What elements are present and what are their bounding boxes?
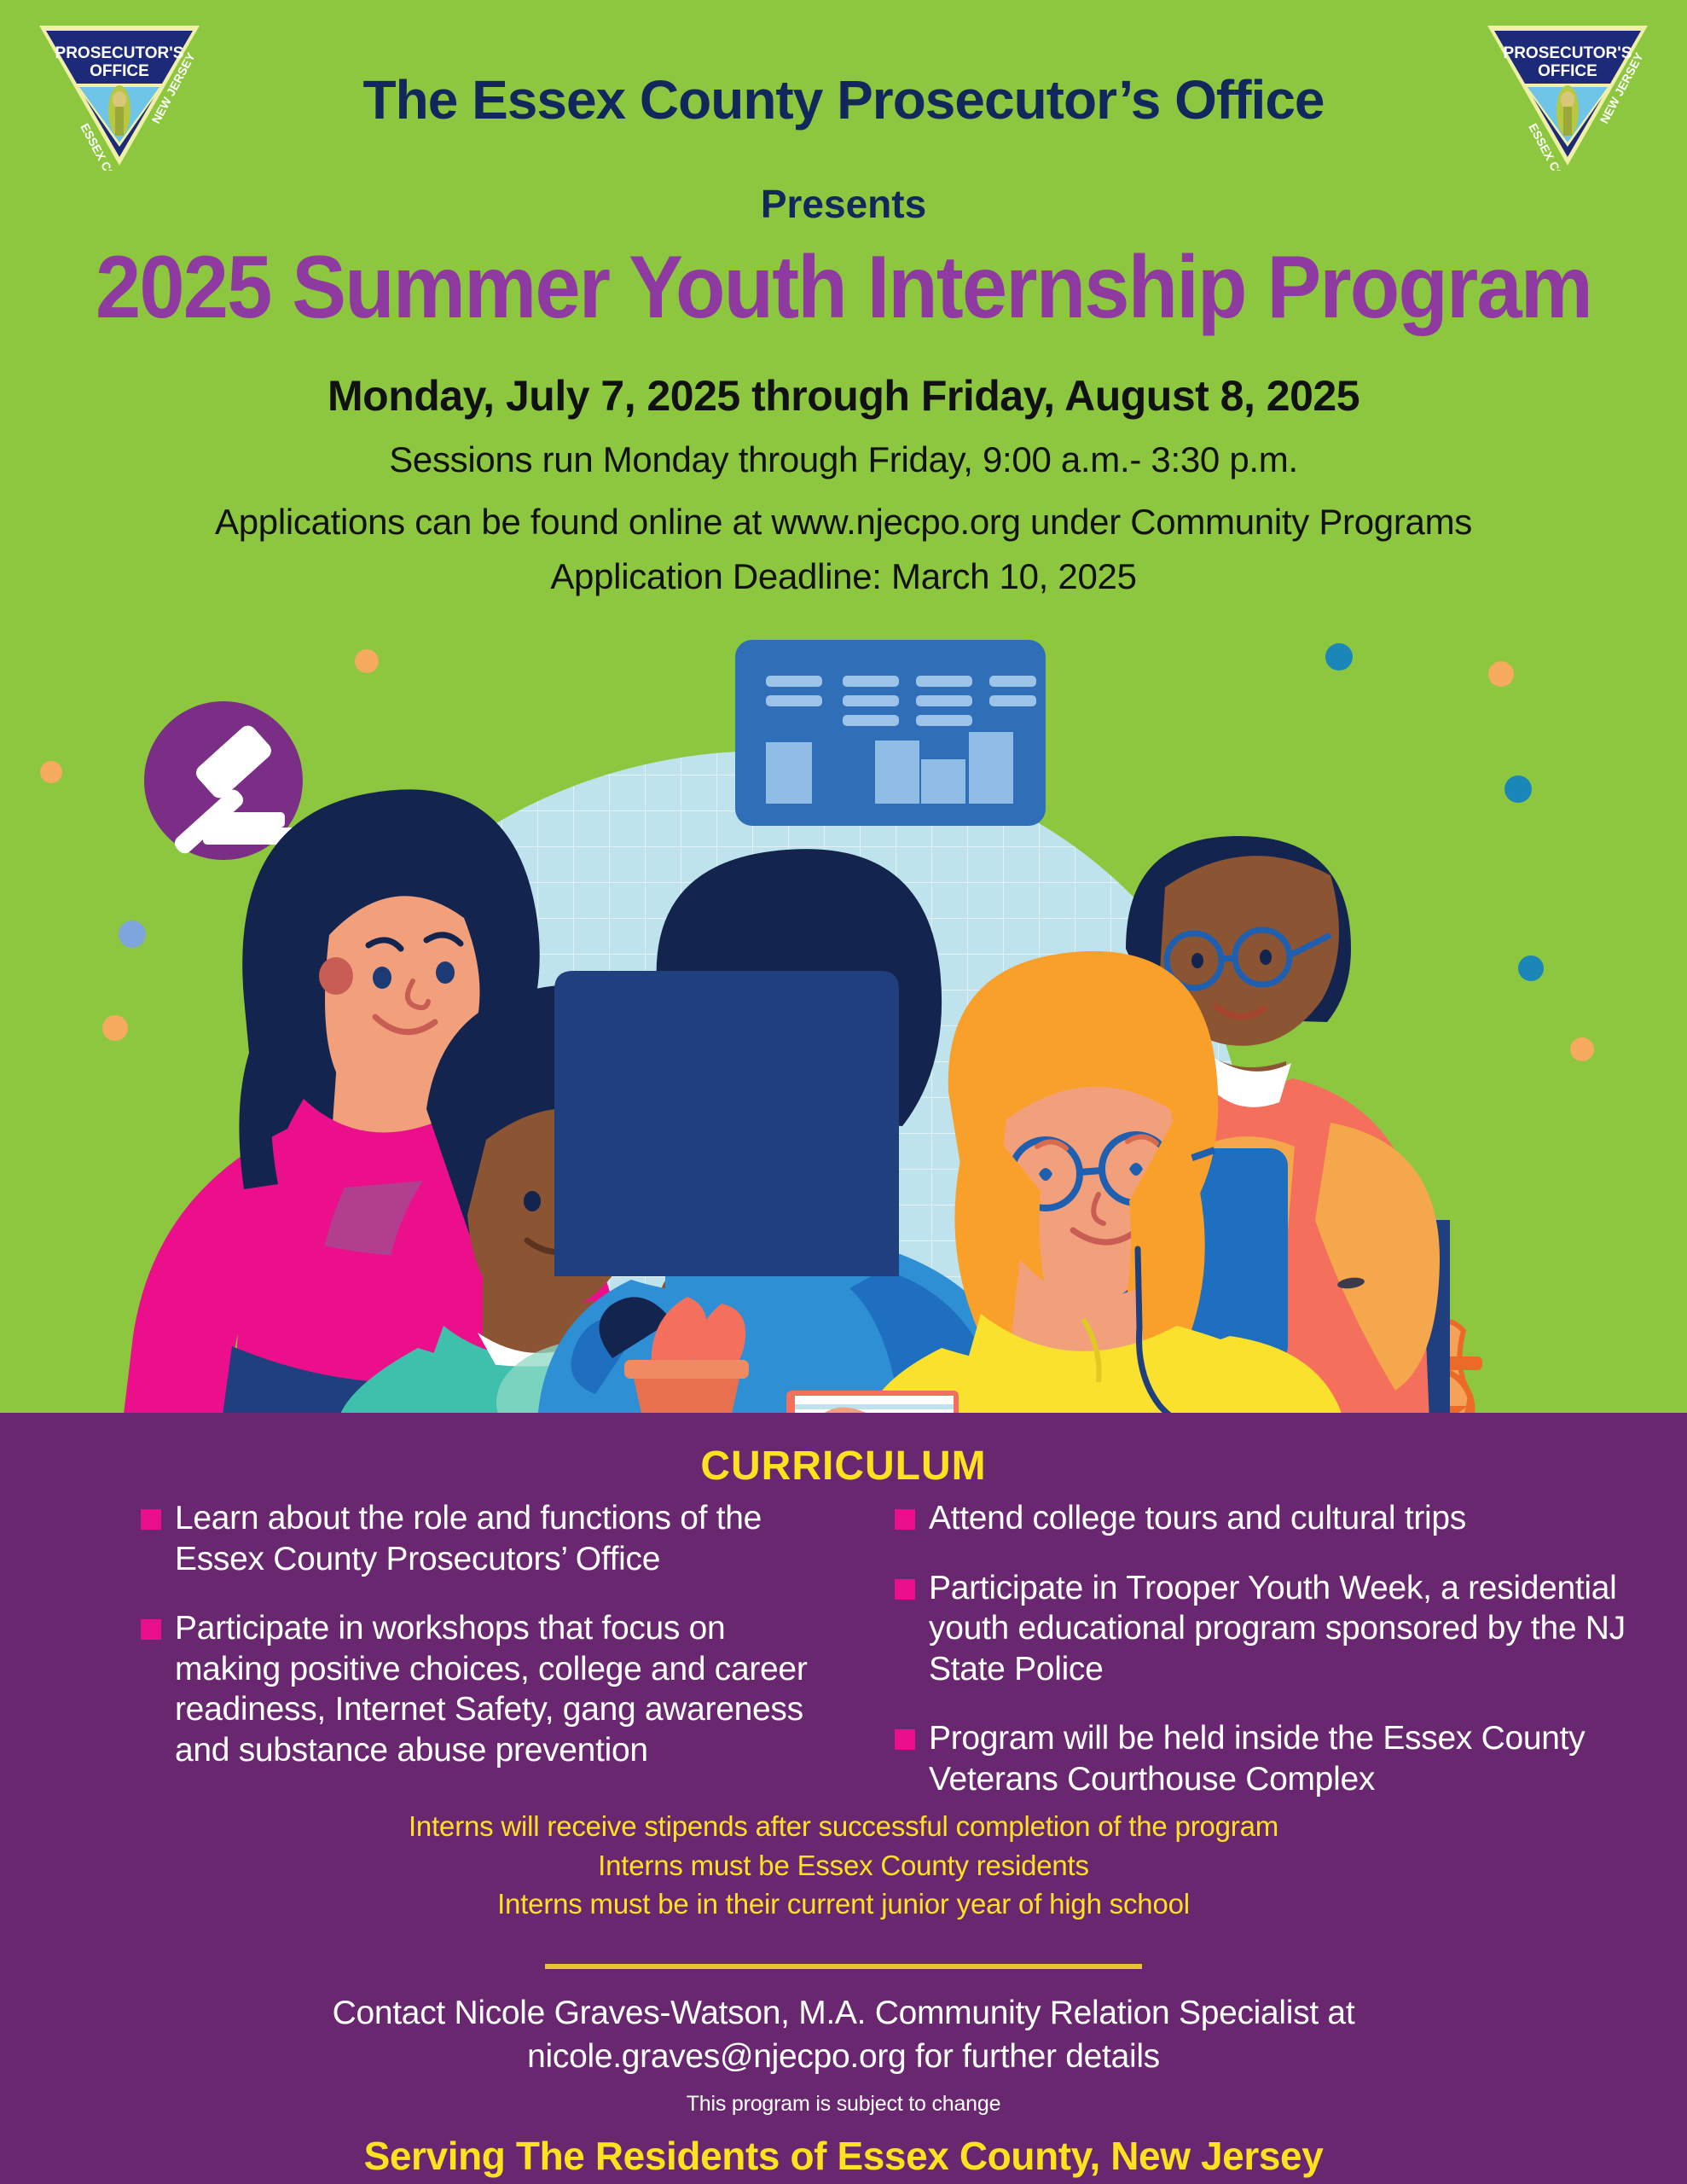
confetti-dot [1488,661,1514,687]
curriculum-item: Program will be held inside the Essex Co… [895,1718,1636,1799]
curriculum-item: Attend college tours and cultural trips [895,1498,1636,1539]
confetti-dot [102,1015,128,1041]
subject-to-change-note: This program is subject to change [0,2092,1687,2117]
program-title: 2025 Summer Youth Internship Program [67,237,1620,339]
bullet-square-icon [895,1729,915,1750]
note-line-residency: Interns must be Essex County residents [0,1846,1687,1885]
note-line-stipend: Interns will receive stipends after succ… [0,1807,1687,1846]
curriculum-item-text: Participate in workshops that focus on m… [175,1608,809,1770]
confetti-dot [119,921,146,948]
curriculum-item-text: Attend college tours and cultural trips [929,1498,1466,1539]
section-divider [545,1964,1142,1969]
curriculum-item-text: Learn about the role and functions of th… [175,1498,809,1579]
confetti-dot [1518,955,1544,981]
students-illustration [0,631,1687,1421]
contact-block: Contact Nicole Graves-Watson, M.A. Commu… [0,1991,1687,2079]
curriculum-columns: Learn about the role and functions of th… [0,1498,1687,1828]
bullet-square-icon [895,1579,915,1600]
organization-title: The Essex County Prosecutor’s Office [0,68,1687,131]
curriculum-item: Participate in workshops that focus on m… [141,1608,809,1770]
header-section: PROSECUTOR'S OFFICE ESSEX COUNTY NEW JER… [0,0,1687,1421]
session-times: Sessions run Monday through Friday, 9:00… [0,439,1687,480]
bar-chart-board [735,640,1046,826]
poster: PROSECUTOR'S OFFICE ESSEX COUNTY NEW JER… [0,0,1687,2184]
svg-text:PROSECUTOR'S: PROSECUTOR'S [1504,44,1632,62]
confetti-dot [40,761,62,783]
curriculum-left-column: Learn about the role and functions of th… [0,1498,843,1828]
applications-info: Applications can be found online at www.… [0,502,1687,543]
curriculum-right-column: Attend college tours and cultural trips … [843,1498,1687,1828]
program-dates: Monday, July 7, 2025 through Friday, Aug… [0,371,1687,421]
curriculum-item: Learn about the role and functions of th… [141,1498,809,1579]
presents-label: Presents [0,181,1687,227]
svg-text:PROSECUTOR'S: PROSECUTOR'S [55,44,184,62]
confetti-dot [355,649,379,673]
eligibility-notes: Interns will receive stipends after succ… [0,1807,1687,1924]
contact-email-line[interactable]: nicole.graves@njecpo.org for further det… [0,2035,1687,2078]
bullet-square-icon [141,1509,161,1530]
curriculum-item-text: Program will be held inside the Essex Co… [929,1718,1636,1799]
serving-footer: Serving The Residents of Essex County, N… [0,2133,1687,2179]
confetti-dot [1570,1037,1594,1061]
contact-line-name: Contact Nicole Graves-Watson, M.A. Commu… [0,1991,1687,2035]
application-deadline: Application Deadline: March 10, 2025 [0,556,1687,597]
curriculum-heading: CURRICULUM [0,1443,1687,1490]
bullet-square-icon [141,1619,161,1640]
gavel-icon [144,701,303,860]
bullet-square-icon [895,1509,915,1530]
confetti-dot [1325,643,1353,671]
note-line-grade: Interns must be in their current junior … [0,1885,1687,1924]
confetti-dot [1504,775,1532,803]
curriculum-item: Participate in Trooper Youth Week, a res… [895,1568,1636,1690]
curriculum-item-text: Participate in Trooper Youth Week, a res… [929,1568,1636,1690]
